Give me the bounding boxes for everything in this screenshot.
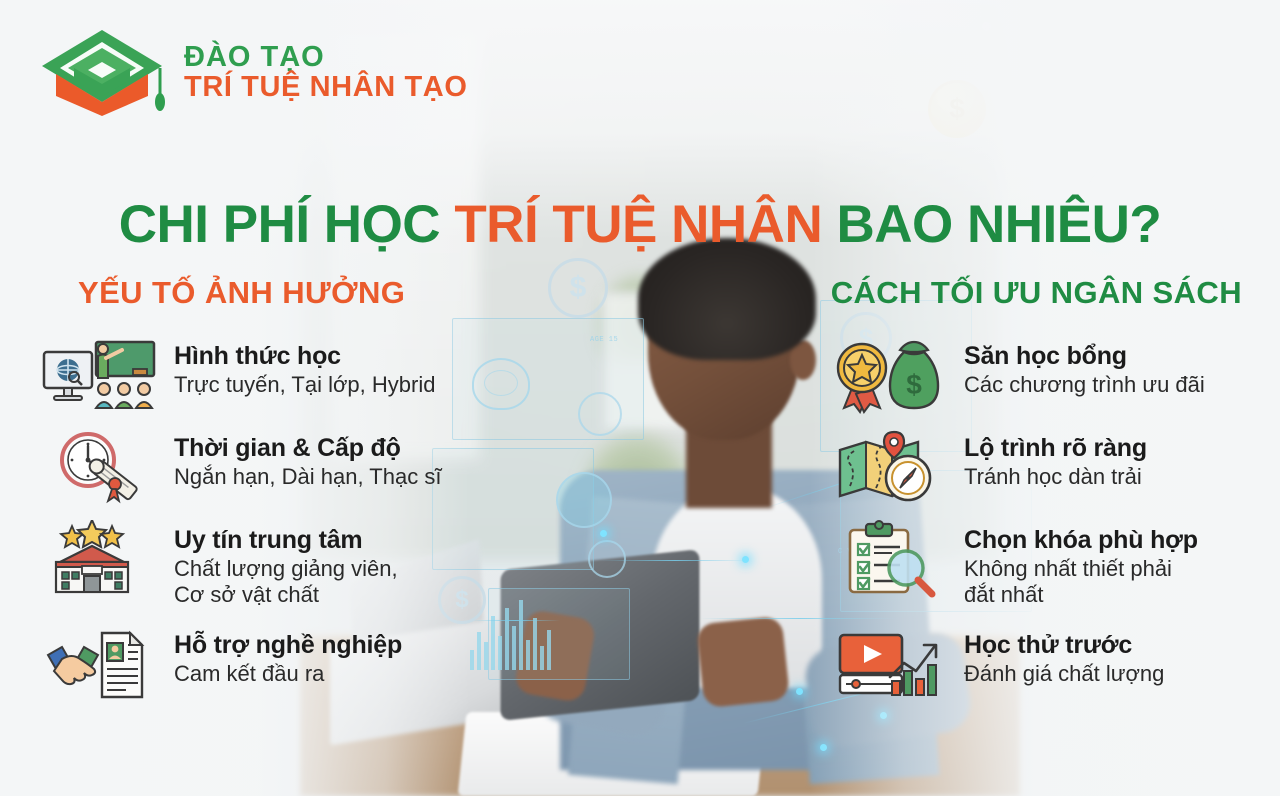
list-item[interactable]: Hình thức học Trực tuyến, Tại lớp, Hybri… xyxy=(40,336,470,414)
brand-line-1: ĐÀO TẠO xyxy=(184,42,467,72)
right-column-heading: CÁCH TỐI ƯU NGÂN SÁCH xyxy=(831,275,1242,311)
list-item[interactable]: Uy tín trung tâm Chất lượng giảng viên, … xyxy=(40,520,470,609)
list-item-title: Chọn khóa phù hợp xyxy=(964,526,1198,554)
list-item-text: Hình thức học Trực tuyến, Tại lớp, Hybri… xyxy=(174,336,435,398)
svg-text:$: $ xyxy=(906,369,922,400)
list-item-title: Học thử trước xyxy=(964,631,1164,659)
list-item-subtitle: Trực tuyến, Tại lớp, Hybrid xyxy=(174,372,435,398)
medal-moneybag-icon: $ xyxy=(830,336,948,414)
list-item-title: Hình thức học xyxy=(174,342,435,370)
checklist-magnifier-icon xyxy=(830,520,948,598)
infographic-poster: AGE 15 C V D I $ $ $ $ $ xyxy=(0,0,1280,796)
list-item[interactable]: $ Săn học bổng Các chương trình ưu đãi xyxy=(830,336,1250,414)
left-column-heading: YẾU TỐ ẢNH HƯỞNG xyxy=(78,275,405,311)
list-item-subtitle: Không nhất thiết phải xyxy=(964,556,1198,582)
list-item-text: Thời gian & Cấp độ Ngắn hạn, Dài hạn, Th… xyxy=(174,428,441,490)
list-item-text: Săn học bổng Các chương trình ưu đãi xyxy=(964,336,1205,398)
brand-line-2: TRÍ TUỆ NHÂN TẠO xyxy=(184,72,467,102)
list-item[interactable]: Hỗ trợ nghề nghiệp Cam kết đầu ra xyxy=(40,625,470,703)
page-title: CHI PHÍ HỌC TRÍ TUỆ NHÂN BAO NHIÊU? xyxy=(0,194,1280,255)
list-item-text: Học thử trước Đánh giá chất lượng xyxy=(964,625,1164,687)
title-part-3: BAO NHIÊU? xyxy=(836,195,1161,254)
clock-diploma-icon xyxy=(40,428,158,506)
school-stars-icon xyxy=(40,520,158,598)
list-item[interactable]: Thời gian & Cấp độ Ngắn hạn, Dài hạn, Th… xyxy=(40,428,470,506)
list-item[interactable]: Học thử trước Đánh giá chất lượng xyxy=(830,625,1250,703)
video-growth-icon xyxy=(830,625,948,703)
list-item-title: Lộ trình rõ ràng xyxy=(964,434,1147,462)
title-part-2: TRÍ TUỆ NHÂN xyxy=(454,195,836,254)
list-item-subtitle: Ngắn hạn, Dài hạn, Thạc sĩ xyxy=(174,464,441,490)
list-item-title: Uy tín trung tâm xyxy=(174,526,398,554)
list-item-text: Uy tín trung tâm Chất lượng giảng viên, … xyxy=(174,520,398,609)
title-part-1: CHI PHÍ HỌC xyxy=(119,195,455,254)
list-item[interactable]: Lộ trình rõ ràng Tránh học dàn trải xyxy=(830,428,1250,506)
map-compass-icon xyxy=(830,428,948,506)
graduation-cap-icon xyxy=(34,22,170,118)
list-item-text: Chọn khóa phù hợp Không nhất thiết phải … xyxy=(964,520,1198,609)
right-tips-list: $ Săn học bổng Các chương trình ưu đãi xyxy=(830,336,1250,709)
list-item-subtitle: Cam kết đầu ra xyxy=(174,661,402,687)
list-item-subtitle: Chất lượng giảng viên, xyxy=(174,556,398,582)
brand-logo[interactable]: ĐÀO TẠO TRÍ TUỆ NHÂN TẠO xyxy=(34,22,467,118)
list-item-subtitle: Đánh giá chất lượng xyxy=(964,661,1164,687)
list-item-title: Thời gian & Cấp độ xyxy=(174,434,441,462)
list-item-title: Hỗ trợ nghề nghiệp xyxy=(174,631,402,659)
list-item-subtitle: Các chương trình ưu đãi xyxy=(964,372,1205,398)
left-factor-list: Hình thức học Trực tuyến, Tại lớp, Hybri… xyxy=(40,336,470,709)
list-item-subtitle: Tránh học dàn trải xyxy=(964,464,1147,490)
poster-content: ĐÀO TẠO TRÍ TUỆ NHÂN TẠO CHI PHÍ HỌC TRÍ… xyxy=(0,0,1280,796)
list-item-text: Hỗ trợ nghề nghiệp Cam kết đầu ra xyxy=(174,625,402,687)
online-classroom-icon xyxy=(40,336,158,414)
list-item-text: Lộ trình rõ ràng Tránh học dàn trải xyxy=(964,428,1147,490)
list-item[interactable]: Chọn khóa phù hợp Không nhất thiết phải … xyxy=(830,520,1250,609)
list-item-title: Săn học bổng xyxy=(964,342,1205,370)
handshake-resume-icon xyxy=(40,625,158,703)
list-item-subtitle-2: đắt nhất xyxy=(964,582,1198,608)
brand-wordmark: ĐÀO TẠO TRÍ TUỆ NHÂN TẠO xyxy=(184,38,467,102)
list-item-subtitle-2: Cơ sở vật chất xyxy=(174,582,398,608)
